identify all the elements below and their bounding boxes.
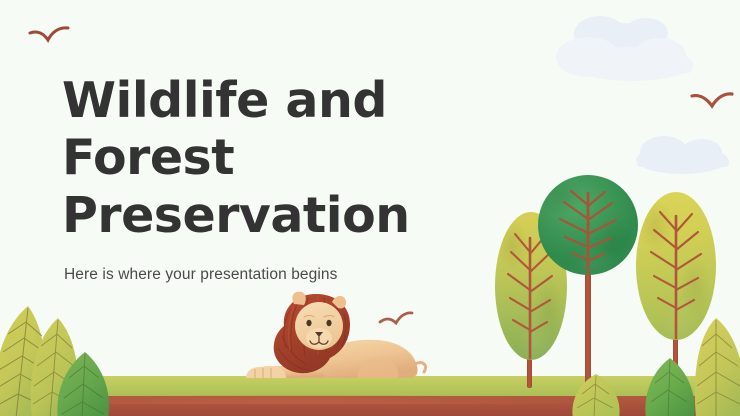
bird-top-right <box>690 90 734 114</box>
bird-top-left <box>28 26 70 48</box>
page-title: Wildlife and Forest Preservation <box>62 72 562 244</box>
leaf-left-green <box>52 352 116 416</box>
lion-paw <box>246 367 286 378</box>
leaf-far-right-yellow <box>690 318 740 416</box>
cloud-upper <box>556 16 693 81</box>
lion-eye-right <box>326 320 331 326</box>
title-block: Wildlife and Forest Preservation Here is… <box>62 72 562 284</box>
lion-eye-left <box>306 320 311 326</box>
leaf-right-yellow-small <box>568 374 624 416</box>
lion <box>232 286 432 396</box>
cloud-lower <box>636 136 729 174</box>
presentation-slide: Wildlife and Forest Preservation Here is… <box>0 0 740 416</box>
bird-center <box>378 310 414 330</box>
page-subtitle: Here is where your presentation begins <box>64 266 562 284</box>
